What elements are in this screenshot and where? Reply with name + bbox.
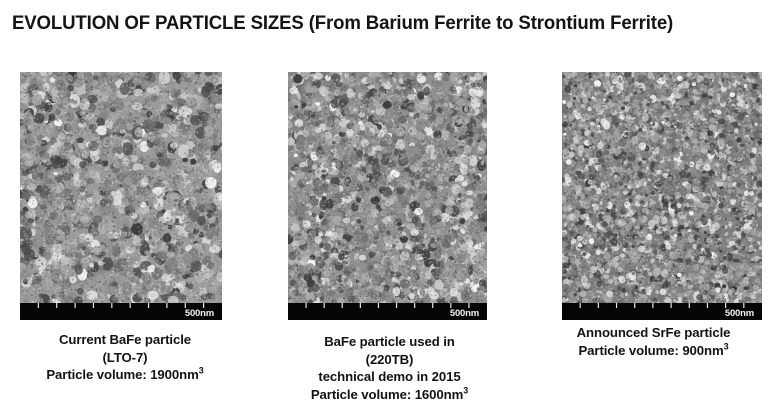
scale-bar: 500nm	[562, 303, 762, 320]
superscript-cubed: 3	[463, 385, 468, 395]
page-title: EVOLUTION OF PARTICLE SIZES (From Barium…	[12, 11, 673, 35]
scale-bar: 500nm	[20, 303, 222, 320]
panel-caption: Announced SrFe particleParticle volume: …	[527, 324, 780, 359]
micrograph-texture	[562, 72, 762, 303]
scale-bar-label: 500nm	[725, 308, 754, 319]
scale-bar-label: 500nm	[450, 308, 479, 319]
sem-micrograph-image	[20, 72, 222, 303]
caption-line: (220TB)	[262, 351, 517, 369]
micrograph-texture	[20, 72, 222, 303]
caption-line: BaFe particle used in	[262, 333, 517, 351]
sem-micrograph-image	[288, 72, 487, 303]
caption-line: Current BaFe particle	[0, 331, 250, 349]
superscript-cubed: 3	[199, 366, 204, 376]
caption-line: Particle volume: 1600nm3	[262, 386, 517, 404]
caption-line: (LTO-7)	[0, 349, 250, 367]
particle-panel: 500nm	[288, 72, 487, 320]
particle-panel: 500nm	[562, 72, 762, 320]
scale-bar-label: 500nm	[185, 308, 214, 319]
caption-line: Announced SrFe particle	[527, 324, 780, 342]
superscript-cubed: 3	[724, 341, 729, 351]
particle-panel: 500nm	[20, 72, 222, 320]
panel-caption: BaFe particle used in(220TB)technical de…	[262, 333, 517, 403]
micrograph-texture	[288, 72, 487, 303]
sem-micrograph-image	[562, 72, 762, 303]
caption-line: Particle volume: 1900nm3	[0, 366, 250, 384]
scale-bar: 500nm	[288, 303, 487, 320]
panel-caption: Current BaFe particle(LTO-7)Particle vol…	[0, 331, 250, 384]
caption-line: technical demo in 2015	[262, 368, 517, 386]
caption-line: Particle volume: 900nm3	[527, 342, 780, 360]
